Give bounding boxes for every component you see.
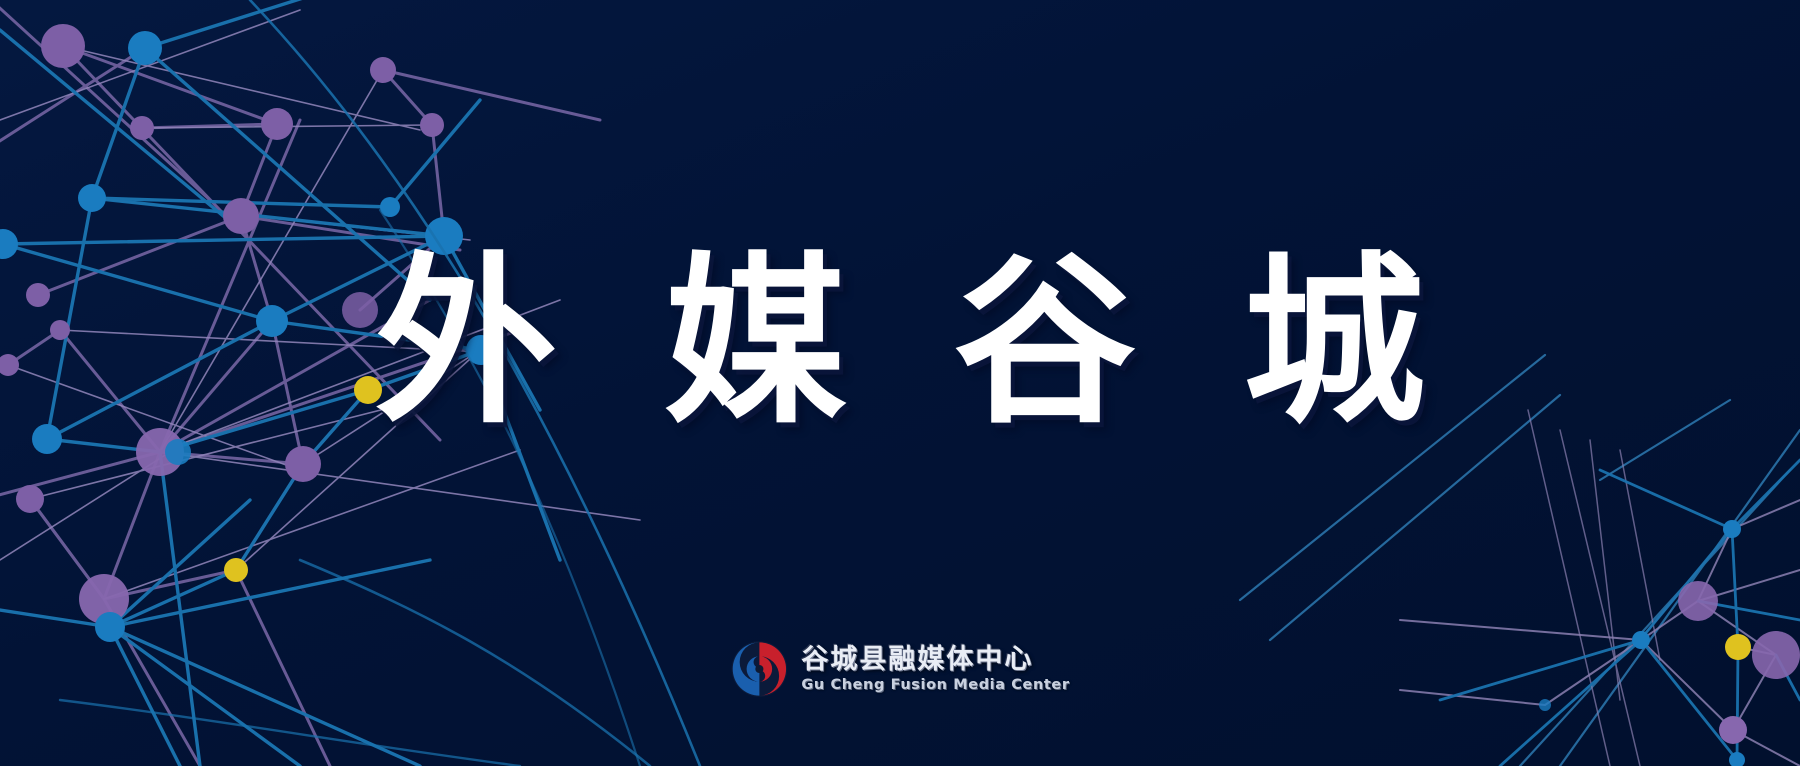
banner-root: 外 媒 谷 城 谷城县融媒体中心 Gu Cheng Fusion Media C… [0, 0, 1800, 766]
logo-text-block: 谷城县融媒体中心 Gu Cheng Fusion Media Center [801, 646, 1069, 693]
gucheng-fusion-media-swirl-logo-icon [730, 640, 788, 698]
logo-name-en: Gu Cheng Fusion Media Center [801, 678, 1069, 693]
logo-name-cn: 谷城县融媒体中心 [801, 646, 1069, 673]
organization-logo: 谷城县融媒体中心 Gu Cheng Fusion Media Center [730, 640, 1069, 698]
